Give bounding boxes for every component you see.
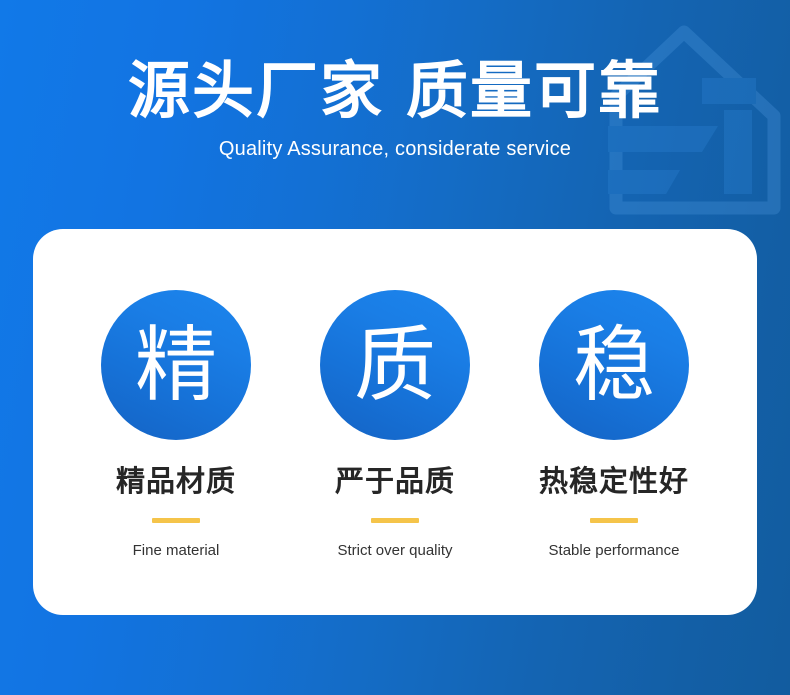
feature-badge-circle-1: 精 bbox=[101, 290, 251, 440]
headline-part-1: 源头厂家 bbox=[128, 57, 384, 126]
feature-title-1: 精品材质 bbox=[71, 440, 281, 500]
feature-item-3: 稳 热稳定性好 Stable performance bbox=[509, 290, 719, 561]
headline-part-2: 质量可靠 bbox=[406, 57, 662, 126]
banner-header: 源头厂家质量可靠 Quality Assurance, considerate … bbox=[0, 0, 790, 162]
feature-subtitle-3: Stable performance bbox=[509, 523, 719, 561]
page-title: 源头厂家质量可靠 bbox=[0, 0, 790, 130]
feature-badge-circle-3: 稳 bbox=[539, 290, 689, 440]
promo-banner: 源头厂家质量可靠 Quality Assurance, considerate … bbox=[0, 0, 790, 695]
feature-subtitle-1: Fine material bbox=[71, 523, 281, 561]
feature-badge-char-2: 质 bbox=[354, 325, 436, 407]
feature-title-3: 热稳定性好 bbox=[509, 440, 719, 500]
feature-subtitle-2: Strict over quality bbox=[290, 523, 500, 561]
features-card: 精 精品材质 Fine material 质 严于品质 Strict over … bbox=[33, 229, 757, 615]
feature-badge-char-1: 精 bbox=[135, 325, 217, 407]
page-subtitle: Quality Assurance, considerate service bbox=[0, 130, 790, 162]
feature-badge-char-3: 稳 bbox=[573, 325, 655, 407]
feature-item-2: 质 严于品质 Strict over quality bbox=[290, 290, 500, 561]
feature-item-1: 精 精品材质 Fine material bbox=[71, 290, 281, 561]
feature-badge-circle-2: 质 bbox=[320, 290, 470, 440]
feature-title-2: 严于品质 bbox=[290, 440, 500, 500]
